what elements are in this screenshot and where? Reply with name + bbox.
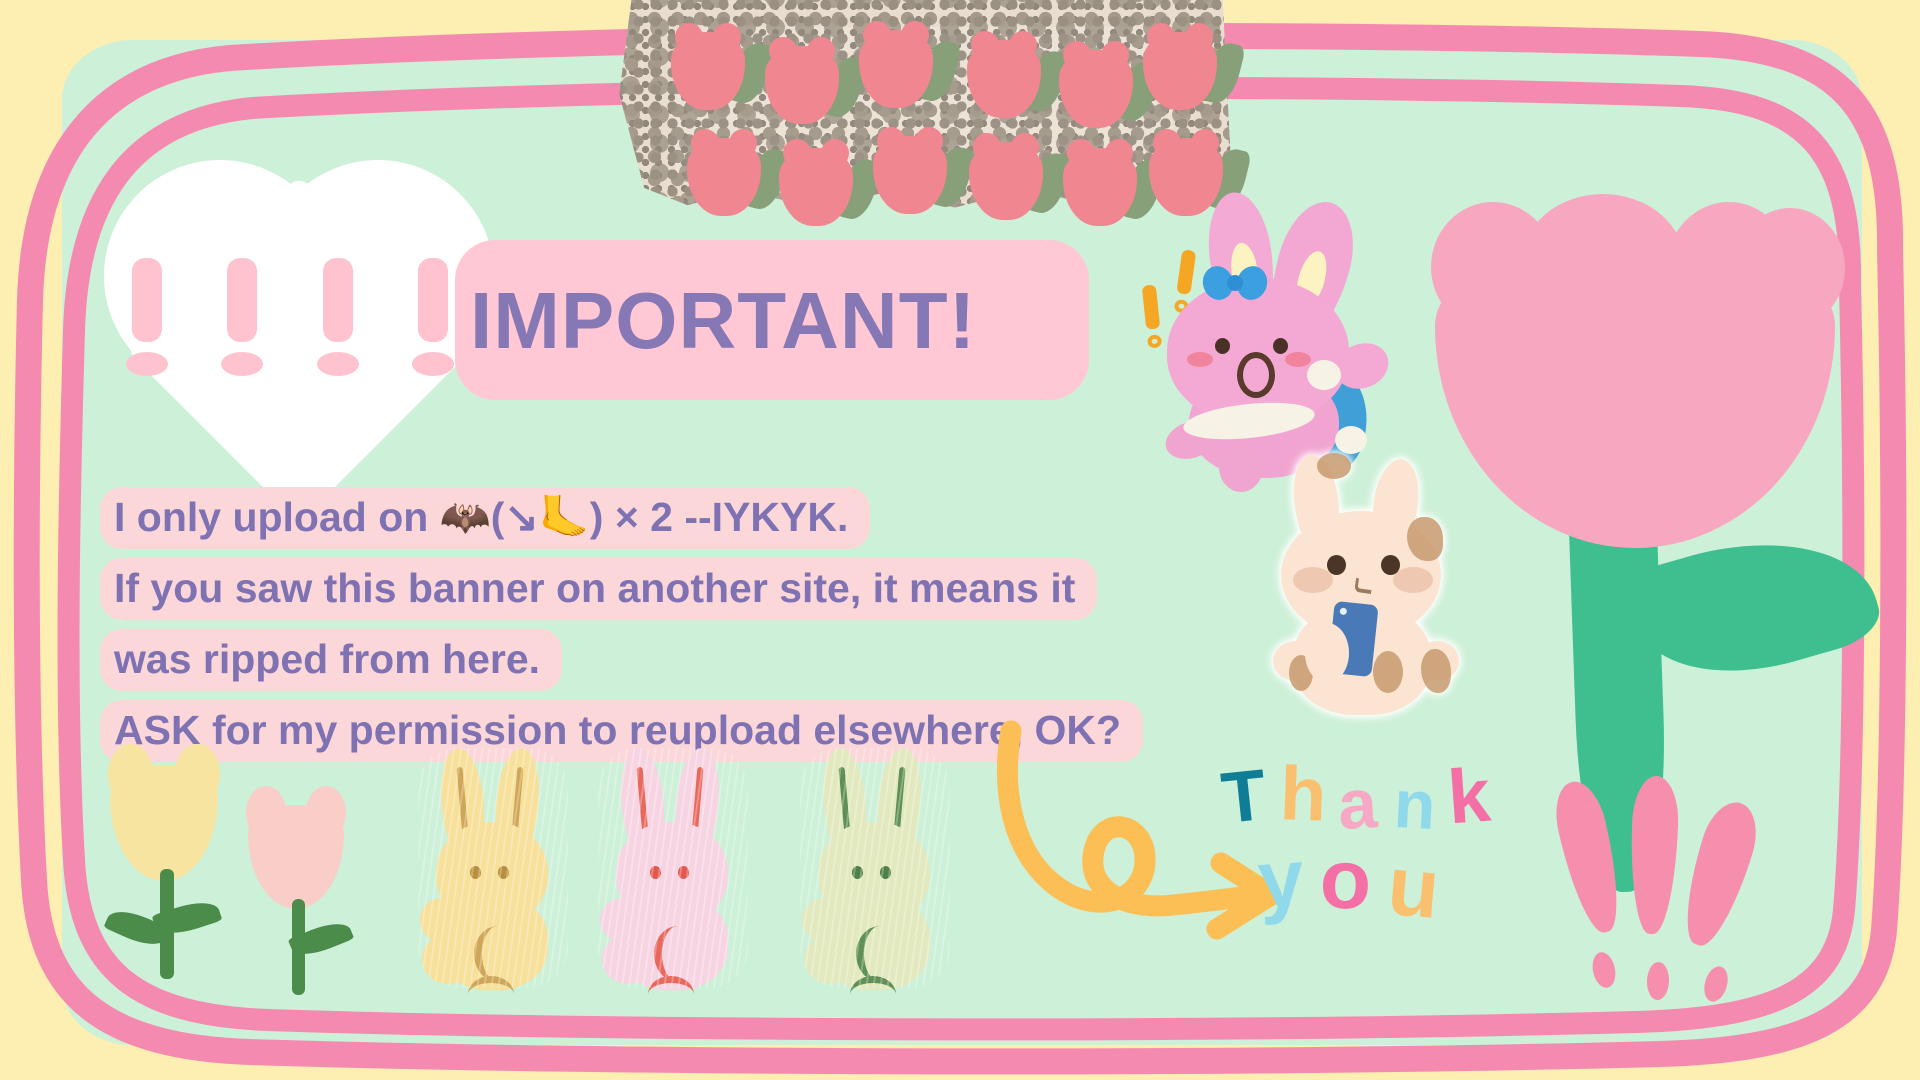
- thank-you-letter: y: [1255, 838, 1306, 923]
- washi-tulip-icon: [759, 40, 845, 126]
- thank-you-letter: T: [1218, 759, 1269, 835]
- thank-you-letter: n: [1392, 770, 1437, 840]
- thank-you-letter: h: [1279, 756, 1328, 834]
- washi-tulip-icon: [963, 136, 1049, 222]
- heart-sticker-icon: [104, 160, 494, 500]
- thank-you-letter: u: [1384, 843, 1442, 931]
- small-tulip-icon: [110, 765, 228, 955]
- washi-tape: [613, 0, 1235, 214]
- heart-exclamations: [126, 258, 456, 398]
- flying-bunny-icon: [1125, 190, 1415, 480]
- small-tulip-icon: [248, 805, 352, 975]
- page-title: IMPORTANT!: [470, 253, 1090, 389]
- thank-you-letter: a: [1336, 768, 1379, 840]
- message-line: If you saw this banner on another site, …: [100, 558, 1097, 620]
- message-line: I only upload on 🦇(↘🦶) × 2 --IYKYK.: [100, 487, 870, 549]
- washi-tulip-icon: [961, 34, 1047, 120]
- washi-tulip-icon: [853, 24, 939, 110]
- message-line: was ripped from here.: [100, 629, 562, 691]
- thank-you-letter: o: [1319, 836, 1373, 922]
- thank-you-lettering: T h a n k y o u: [1222, 755, 1522, 965]
- washi-tulip-icon: [867, 130, 953, 216]
- gummy-bunny-icon: [598, 748, 748, 988]
- washi-tulip-icon: [681, 132, 767, 218]
- washi-tulip-icon: [665, 26, 751, 112]
- gummy-bunny-icon: [418, 748, 568, 988]
- banner-stage: IMPORTANT! I only upload on 🦇(↘🦶) × 2 --…: [0, 0, 1920, 1080]
- washi-tulip-icon: [1053, 44, 1139, 130]
- washi-tulip-icon: [1137, 26, 1223, 112]
- phone-bunny-icon: [1265, 455, 1490, 725]
- gummy-bunny-icon: [800, 748, 950, 988]
- thank-you-letter: k: [1445, 758, 1492, 837]
- washi-tulip-icon: [773, 142, 859, 228]
